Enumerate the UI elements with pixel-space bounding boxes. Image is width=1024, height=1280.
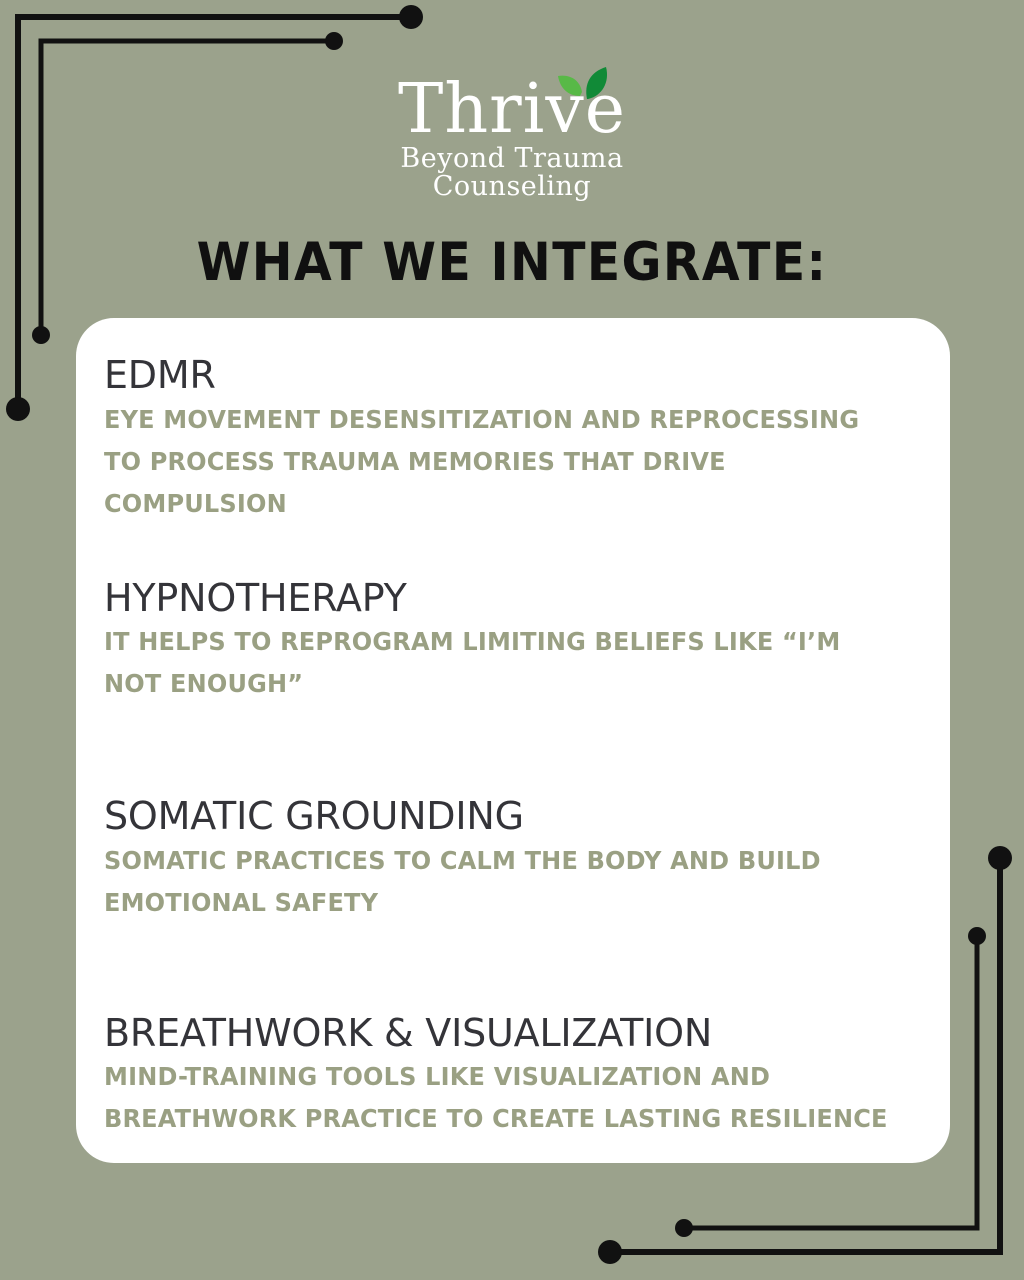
modality-description: MIND-TRAINING TOOLS LIKE VISUALIZATION A… bbox=[104, 1056, 889, 1140]
logo-tagline-line2: Counseling bbox=[433, 173, 591, 201]
bracket-dot-br-outer-left bbox=[598, 1240, 622, 1264]
modality-item-hypnotherapy: HYPNOTHERAPY IT HELPS TO REPROGRAM LIMIT… bbox=[104, 577, 922, 706]
modality-description: IT HELPS TO REPROGRAM LIMITING BELIEFS L… bbox=[104, 621, 889, 705]
modality-title: HYPNOTHERAPY bbox=[104, 577, 922, 620]
modality-title: SOMATIC GROUNDING bbox=[104, 795, 922, 838]
page-title: WHAT WE INTEGRATE: bbox=[41, 232, 983, 293]
bracket-dot-tl-inner-bottom bbox=[32, 326, 50, 344]
brand-logo: Thrive Beyond Trauma Counseling bbox=[0, 78, 1024, 201]
modality-item-edmr: EDMR EYE MOVEMENT DESENSITIZATION AND RE… bbox=[104, 354, 922, 525]
bracket-dot-br-inner-left bbox=[675, 1219, 693, 1237]
modality-item-somatic-grounding: SOMATIC GROUNDING SOMATIC PRACTICES TO C… bbox=[104, 795, 922, 924]
modality-description: SOMATIC PRACTICES TO CALM THE BODY AND B… bbox=[104, 840, 889, 924]
bracket-dot-tl-inner-right bbox=[325, 32, 343, 50]
spacer bbox=[104, 924, 922, 1012]
bracket-dot-tl-outer-bottom bbox=[6, 397, 30, 421]
logo-wordmark: Thrive bbox=[398, 78, 626, 143]
spacer bbox=[104, 705, 922, 795]
modality-item-breathwork-visualization: BREATHWORK & VISUALIZATION MIND-TRAINING… bbox=[104, 1012, 922, 1141]
poster-canvas: Thrive Beyond Trauma Counseling WHAT WE … bbox=[0, 0, 1024, 1280]
modality-title: BREATHWORK & VISUALIZATION bbox=[104, 1012, 922, 1055]
modality-title: EDMR bbox=[104, 354, 922, 397]
bracket-dot-br-inner-top bbox=[968, 927, 986, 945]
modality-description: EYE MOVEMENT DESENSITIZATION AND REPROCE… bbox=[104, 399, 889, 525]
bracket-dot-br-outer-top bbox=[988, 846, 1012, 870]
leaf-icon bbox=[554, 66, 612, 104]
spacer bbox=[104, 525, 922, 577]
bracket-dot-tl-outer-right bbox=[399, 5, 423, 29]
modalities-card: EDMR EYE MOVEMENT DESENSITIZATION AND RE… bbox=[76, 318, 950, 1163]
